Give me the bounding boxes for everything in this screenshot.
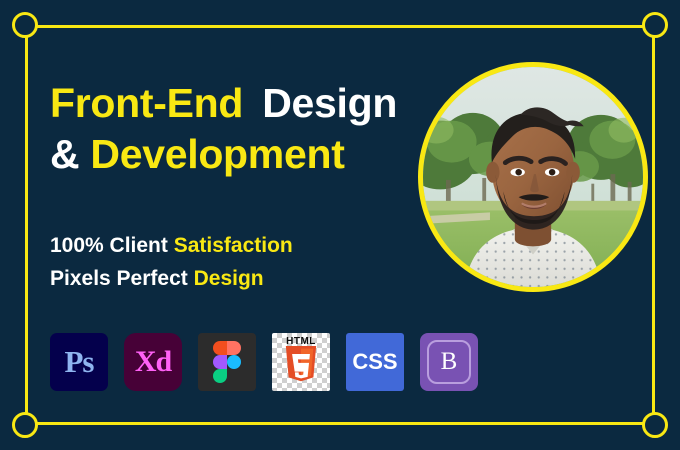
corner-circle-top-right-icon bbox=[642, 12, 668, 38]
css-icon: CSS bbox=[346, 333, 404, 391]
bootstrap-icon-label: B bbox=[441, 348, 458, 376]
headline-front-end: Front-End bbox=[50, 80, 243, 126]
tech-icon-row: Ps Xd HTML CSS bbox=[50, 333, 478, 391]
avatar bbox=[418, 62, 648, 292]
tagline-pixels-perfect: Pixels Perfect bbox=[50, 267, 188, 290]
adobe-xd-icon-label: Xd bbox=[135, 345, 171, 379]
tagline-line-1: 100% Client Satisfaction bbox=[50, 230, 410, 263]
tagline-block: 100% Client Satisfaction Pixels Perfect … bbox=[50, 230, 410, 295]
headline-line-1: Front-End Design bbox=[50, 78, 410, 129]
headline-block: Front-End Design & Development bbox=[50, 78, 410, 180]
tagline-design: Design bbox=[194, 267, 264, 290]
banner-root: Front-End Design & Development 100% Clie… bbox=[0, 0, 680, 450]
html5-icon-label: HTML bbox=[272, 336, 330, 347]
corner-circle-bottom-left-icon bbox=[12, 412, 38, 438]
corner-circle-top-left-icon bbox=[12, 12, 38, 38]
bootstrap-icon-frame: B bbox=[427, 340, 471, 384]
tagline-satisfaction: Satisfaction bbox=[174, 234, 293, 257]
adobe-xd-icon: Xd bbox=[124, 333, 182, 391]
headline-line-2: & Development bbox=[50, 129, 410, 180]
html5-icon: HTML bbox=[272, 333, 330, 391]
css-icon-label: CSS bbox=[352, 349, 397, 375]
corner-circle-bottom-right-icon bbox=[642, 412, 668, 438]
tagline-line-2: Pixels Perfect Design bbox=[50, 263, 410, 296]
headline-development: Development bbox=[90, 131, 344, 177]
tagline-client: 100% Client bbox=[50, 234, 168, 257]
figma-icon bbox=[198, 333, 256, 391]
headline-ampersand: & bbox=[50, 131, 79, 177]
headline-design: Design bbox=[262, 80, 397, 126]
photoshop-icon: Ps bbox=[50, 333, 108, 391]
photoshop-icon-label: Ps bbox=[65, 344, 94, 380]
bootstrap-icon: B bbox=[420, 333, 478, 391]
